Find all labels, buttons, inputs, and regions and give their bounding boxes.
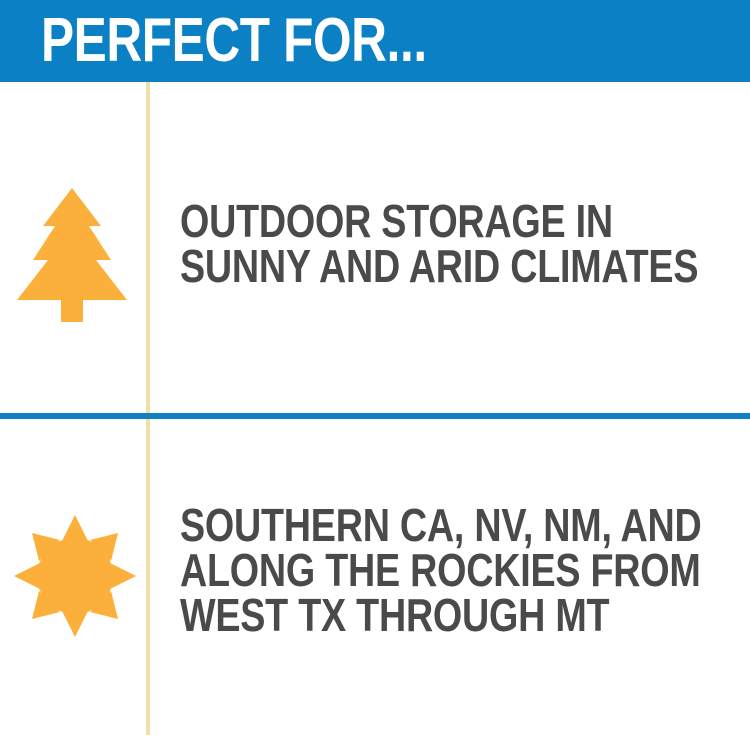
headline-regions: SOUTHERN CA, NV, NM, AND ALONG THE ROCKI… [180, 503, 702, 638]
headline-line: SUNNY AND ARID CLIMATES [180, 244, 698, 289]
perfect-for-infographic: PERFECT FOR... OUTDOOR STORAGE IN SUNNY … [0, 0, 750, 750]
headline-line: ALONG THE ROCKIES FROM [180, 548, 702, 593]
headline-outdoor-storage: OUTDOOR STORAGE IN SUNNY AND ARID CLIMAT… [180, 199, 698, 289]
headline-line: OUTDOOR STORAGE IN [180, 199, 698, 244]
row-outdoor-storage: OUTDOOR STORAGE IN SUNNY AND ARID CLIMAT… [0, 82, 750, 413]
text-cell-regions: SOUTHERN CA, NV, NM, AND ALONG THE ROCKI… [150, 419, 750, 750]
row-regions: SOUTHERN CA, NV, NM, AND ALONG THE ROCKI… [0, 419, 750, 750]
header-bar: PERFECT FOR... [0, 0, 750, 82]
icon-cell-regions [0, 419, 146, 750]
icon-cell-outdoor [0, 82, 146, 413]
sun-icon [14, 515, 136, 637]
text-cell-outdoor: OUTDOOR STORAGE IN SUNNY AND ARID CLIMAT… [150, 82, 750, 413]
headline-line: WEST TX THROUGH MT [180, 593, 702, 638]
pine-tree-icon [17, 188, 127, 322]
headline-line: SOUTHERN CA, NV, NM, AND [180, 503, 702, 548]
page-title: PERFECT FOR... [41, 7, 427, 75]
